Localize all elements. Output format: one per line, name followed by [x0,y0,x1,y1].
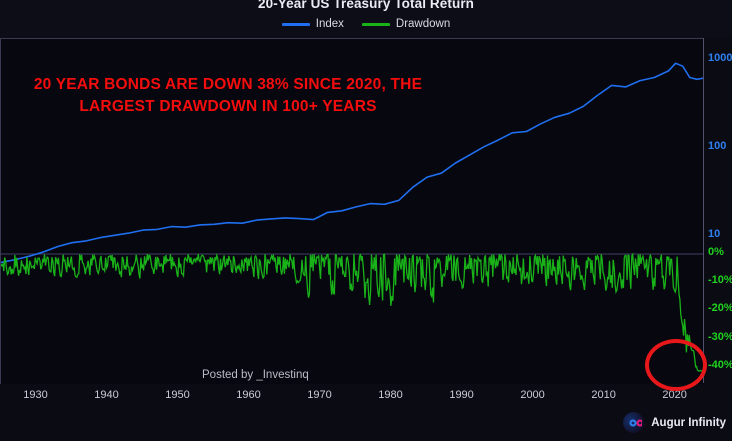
drawdown-series-line [1,254,704,371]
infinity-icon [623,412,644,433]
x-tick-1950: 1950 [165,389,189,401]
legend-label-index: Index [316,18,344,30]
drawdown-tick-minus40pct: -40% [708,359,732,371]
x-tick-2000: 2000 [520,389,544,401]
index-tick-10: 10 [708,228,720,240]
chart-legend: Index Drawdown [0,18,732,30]
legend-swatch-index [282,23,310,26]
index-tick-100: 100 [708,140,726,152]
x-tick-1980: 1980 [378,389,402,401]
x-tick-2010: 2010 [591,389,615,401]
x-tick-1930: 1930 [23,389,47,401]
legend-item-index[interactable]: Index [282,18,344,30]
x-tick-1970: 1970 [307,389,331,401]
right-axis-spine [703,38,704,383]
drawdown-tick-minus10pct: -10% [708,274,732,286]
chart-title: 20-Year US Treasury Total Return [0,0,732,11]
drawdown-tick-minus20pct: -20% [708,302,732,314]
x-tick-1990: 1990 [449,389,473,401]
index-tick-1000: 1000 [708,52,732,64]
legend-swatch-drawdown [362,23,390,26]
legend-item-drawdown[interactable]: Drawdown [362,18,450,30]
brand-badge: Augur Infinity [623,412,726,433]
highlight-circle-annotation [645,339,707,391]
chart-header: 20-Year US Treasury Total Return Index D… [0,0,732,38]
drawdown-tick-minus30pct: -30% [708,331,732,343]
x-tick-1960: 1960 [236,389,260,401]
legend-label-drawdown: Drawdown [396,18,450,30]
drawdown-tick-0pct: 0% [708,246,724,258]
chart-screenshot: 20-Year US Treasury Total Return Index D… [0,0,732,441]
brand-name: Augur Infinity [651,417,726,429]
callout-annotation: 20 YEAR BONDS ARE DOWN 38% SINCE 2020, T… [18,74,438,119]
watermark-credit: Posted by _Investinq [202,369,309,381]
x-tick-1940: 1940 [94,389,118,401]
